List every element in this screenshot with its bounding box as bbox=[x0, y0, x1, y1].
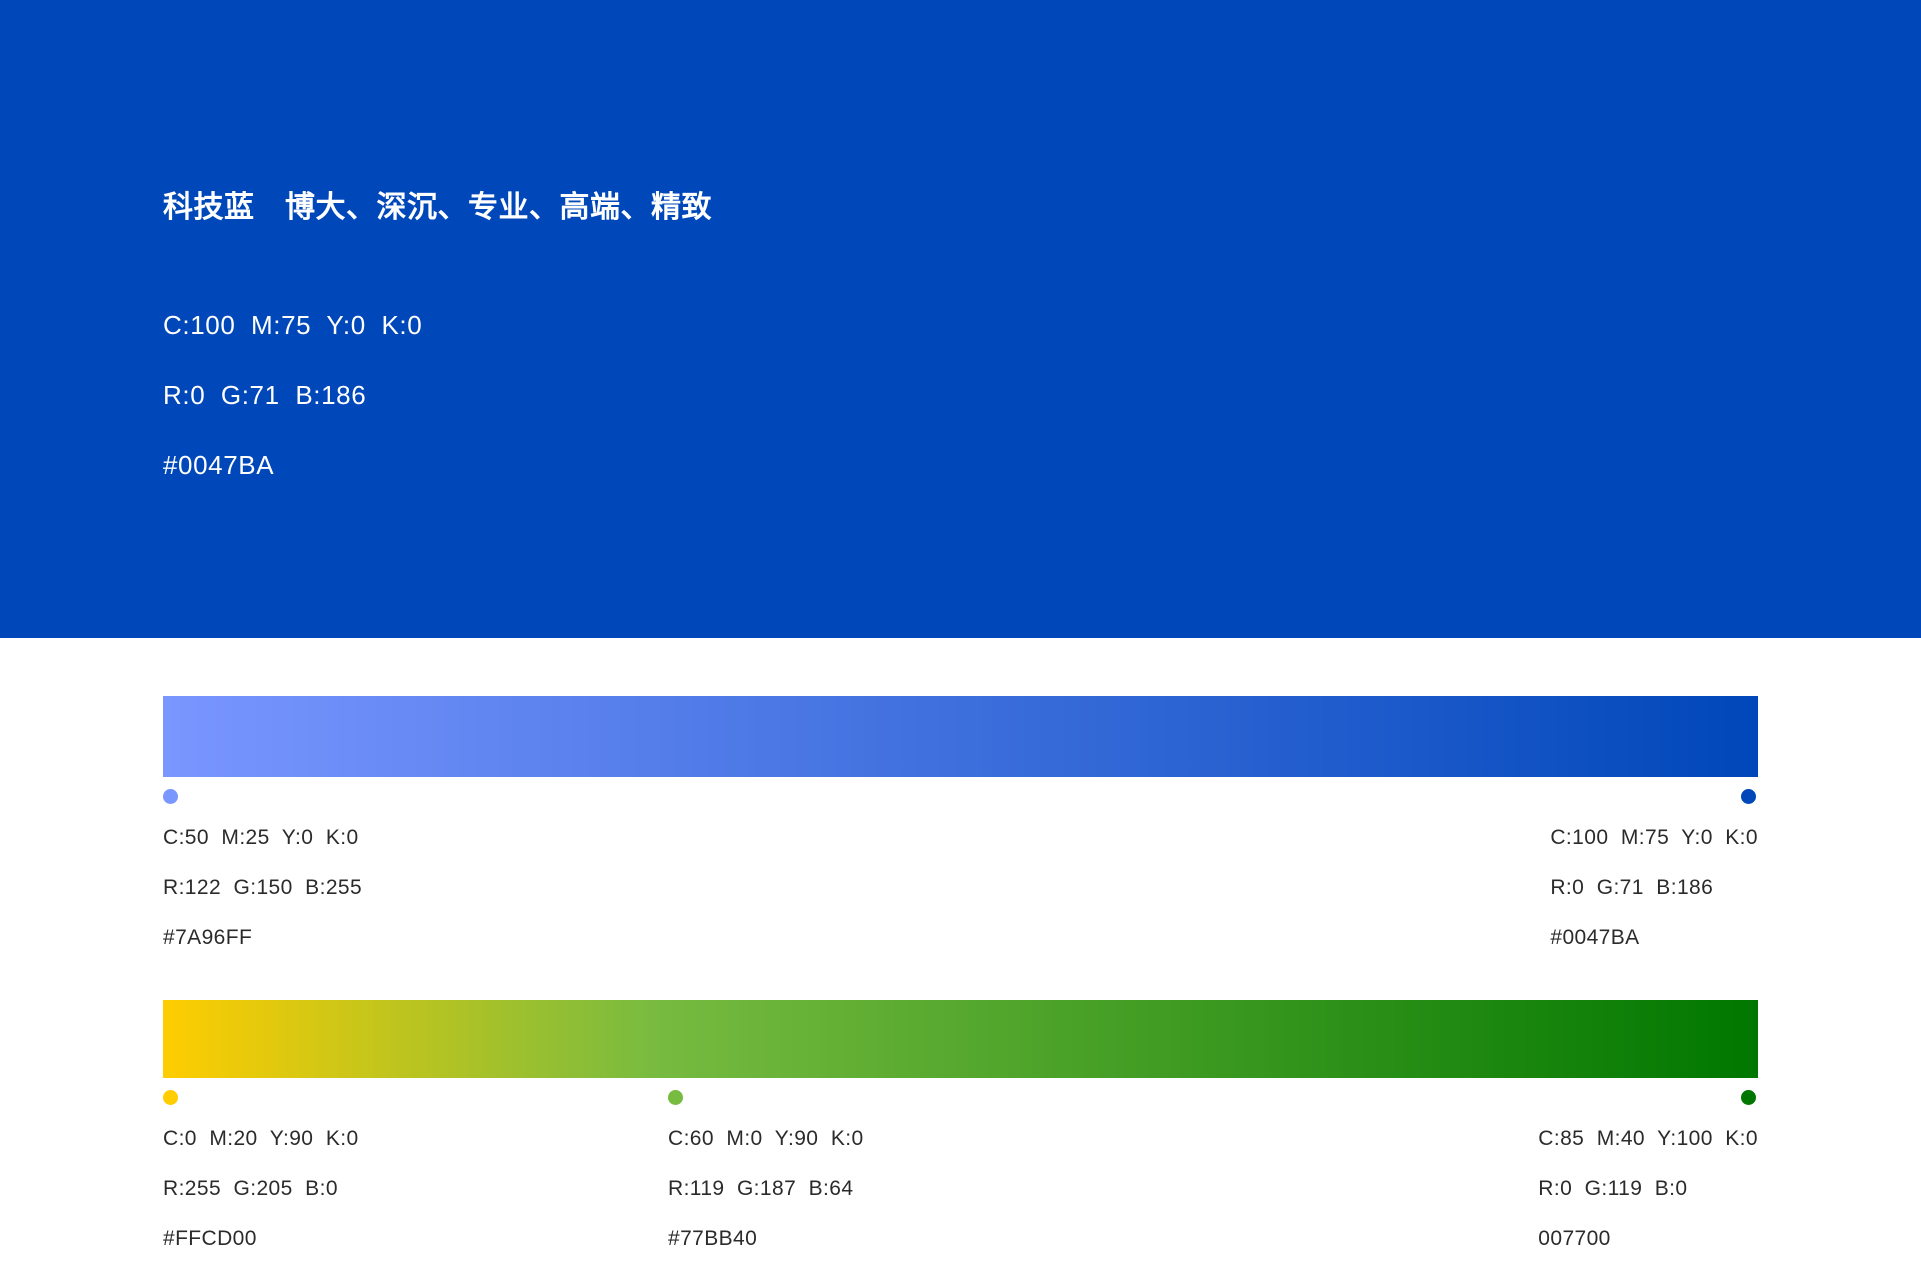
hero-hex-value: #0047BA bbox=[163, 430, 422, 500]
green-gradient-stops: C:0 M:20 Y:90 K:0 R:255 G:205 B:0 #FFCD0… bbox=[163, 1078, 1758, 1248]
hero-cmyk-value: C:100 M:75 Y:0 K:0 bbox=[163, 290, 422, 360]
hero-section: 科技蓝 博大、深沉、专业、高端、精致 C:100 M:75 Y:0 K:0 R:… bbox=[0, 0, 1921, 638]
hex-value: #0047BA bbox=[1550, 913, 1758, 963]
color-stop-values: C:85 M:40 Y:100 K:0 R:0 G:119 B:0 007700 bbox=[1538, 1114, 1758, 1264]
color-stop-blue-light: C:50 M:25 Y:0 K:0 R:122 G:150 B:255 #7A9… bbox=[163, 777, 362, 963]
hex-value: #7A96FF bbox=[163, 913, 362, 963]
green-gradient-group: C:0 M:20 Y:90 K:0 R:255 G:205 B:0 #FFCD0… bbox=[163, 1000, 1758, 1248]
page-title: 科技蓝 博大、深沉、专业、高端、精致 bbox=[163, 190, 712, 226]
swatch-dot-icon bbox=[1741, 789, 1756, 804]
hero-color-specs: C:100 M:75 Y:0 K:0 R:0 G:71 B:186 #0047B… bbox=[163, 290, 422, 500]
color-stop-values: C:0 M:20 Y:90 K:0 R:255 G:205 B:0 #FFCD0… bbox=[163, 1114, 359, 1264]
blue-gradient-bar bbox=[163, 696, 1758, 777]
cmyk-value: C:50 M:25 Y:0 K:0 bbox=[163, 813, 362, 863]
color-stop-yellow: C:0 M:20 Y:90 K:0 R:255 G:205 B:0 #FFCD0… bbox=[163, 1078, 359, 1264]
hex-value: #FFCD00 bbox=[163, 1214, 359, 1264]
blue-gradient-stops: C:50 M:25 Y:0 K:0 R:122 G:150 B:255 #7A9… bbox=[163, 777, 1758, 947]
color-stop-green-dark: C:85 M:40 Y:100 K:0 R:0 G:119 B:0 007700 bbox=[1538, 1078, 1758, 1264]
color-palette-page: 科技蓝 博大、深沉、专业、高端、精致 C:100 M:75 Y:0 K:0 R:… bbox=[0, 0, 1921, 1280]
swatch-dot-icon bbox=[1741, 1090, 1756, 1105]
rgb-value: R:255 G:205 B:0 bbox=[163, 1164, 359, 1214]
cmyk-value: C:100 M:75 Y:0 K:0 bbox=[1550, 813, 1758, 863]
color-stop-values: C:100 M:75 Y:0 K:0 R:0 G:71 B:186 #0047B… bbox=[1550, 813, 1758, 963]
rgb-value: R:119 G:187 B:64 bbox=[668, 1164, 864, 1214]
color-stop-green-light: C:60 M:0 Y:90 K:0 R:119 G:187 B:64 #77BB… bbox=[668, 1078, 864, 1264]
hero-rgb-value: R:0 G:71 B:186 bbox=[163, 360, 422, 430]
hex-value: 007700 bbox=[1538, 1214, 1758, 1264]
cmyk-value: C:85 M:40 Y:100 K:0 bbox=[1538, 1114, 1758, 1164]
color-stop-blue-dark: C:100 M:75 Y:0 K:0 R:0 G:71 B:186 #0047B… bbox=[1550, 777, 1758, 963]
color-stop-values: C:60 M:0 Y:90 K:0 R:119 G:187 B:64 #77BB… bbox=[668, 1114, 864, 1264]
swatch-dot-icon bbox=[163, 1090, 178, 1105]
swatch-dot-icon bbox=[163, 789, 178, 804]
green-gradient-bar bbox=[163, 1000, 1758, 1078]
rgb-value: R:0 G:119 B:0 bbox=[1538, 1164, 1758, 1214]
cmyk-value: C:60 M:0 Y:90 K:0 bbox=[668, 1114, 864, 1164]
rgb-value: R:122 G:150 B:255 bbox=[163, 863, 362, 913]
blue-gradient-group: C:50 M:25 Y:0 K:0 R:122 G:150 B:255 #7A9… bbox=[163, 696, 1758, 947]
hex-value: #77BB40 bbox=[668, 1214, 864, 1264]
cmyk-value: C:0 M:20 Y:90 K:0 bbox=[163, 1114, 359, 1164]
swatch-dot-icon bbox=[668, 1090, 683, 1105]
rgb-value: R:0 G:71 B:186 bbox=[1550, 863, 1758, 913]
color-stop-values: C:50 M:25 Y:0 K:0 R:122 G:150 B:255 #7A9… bbox=[163, 813, 362, 963]
